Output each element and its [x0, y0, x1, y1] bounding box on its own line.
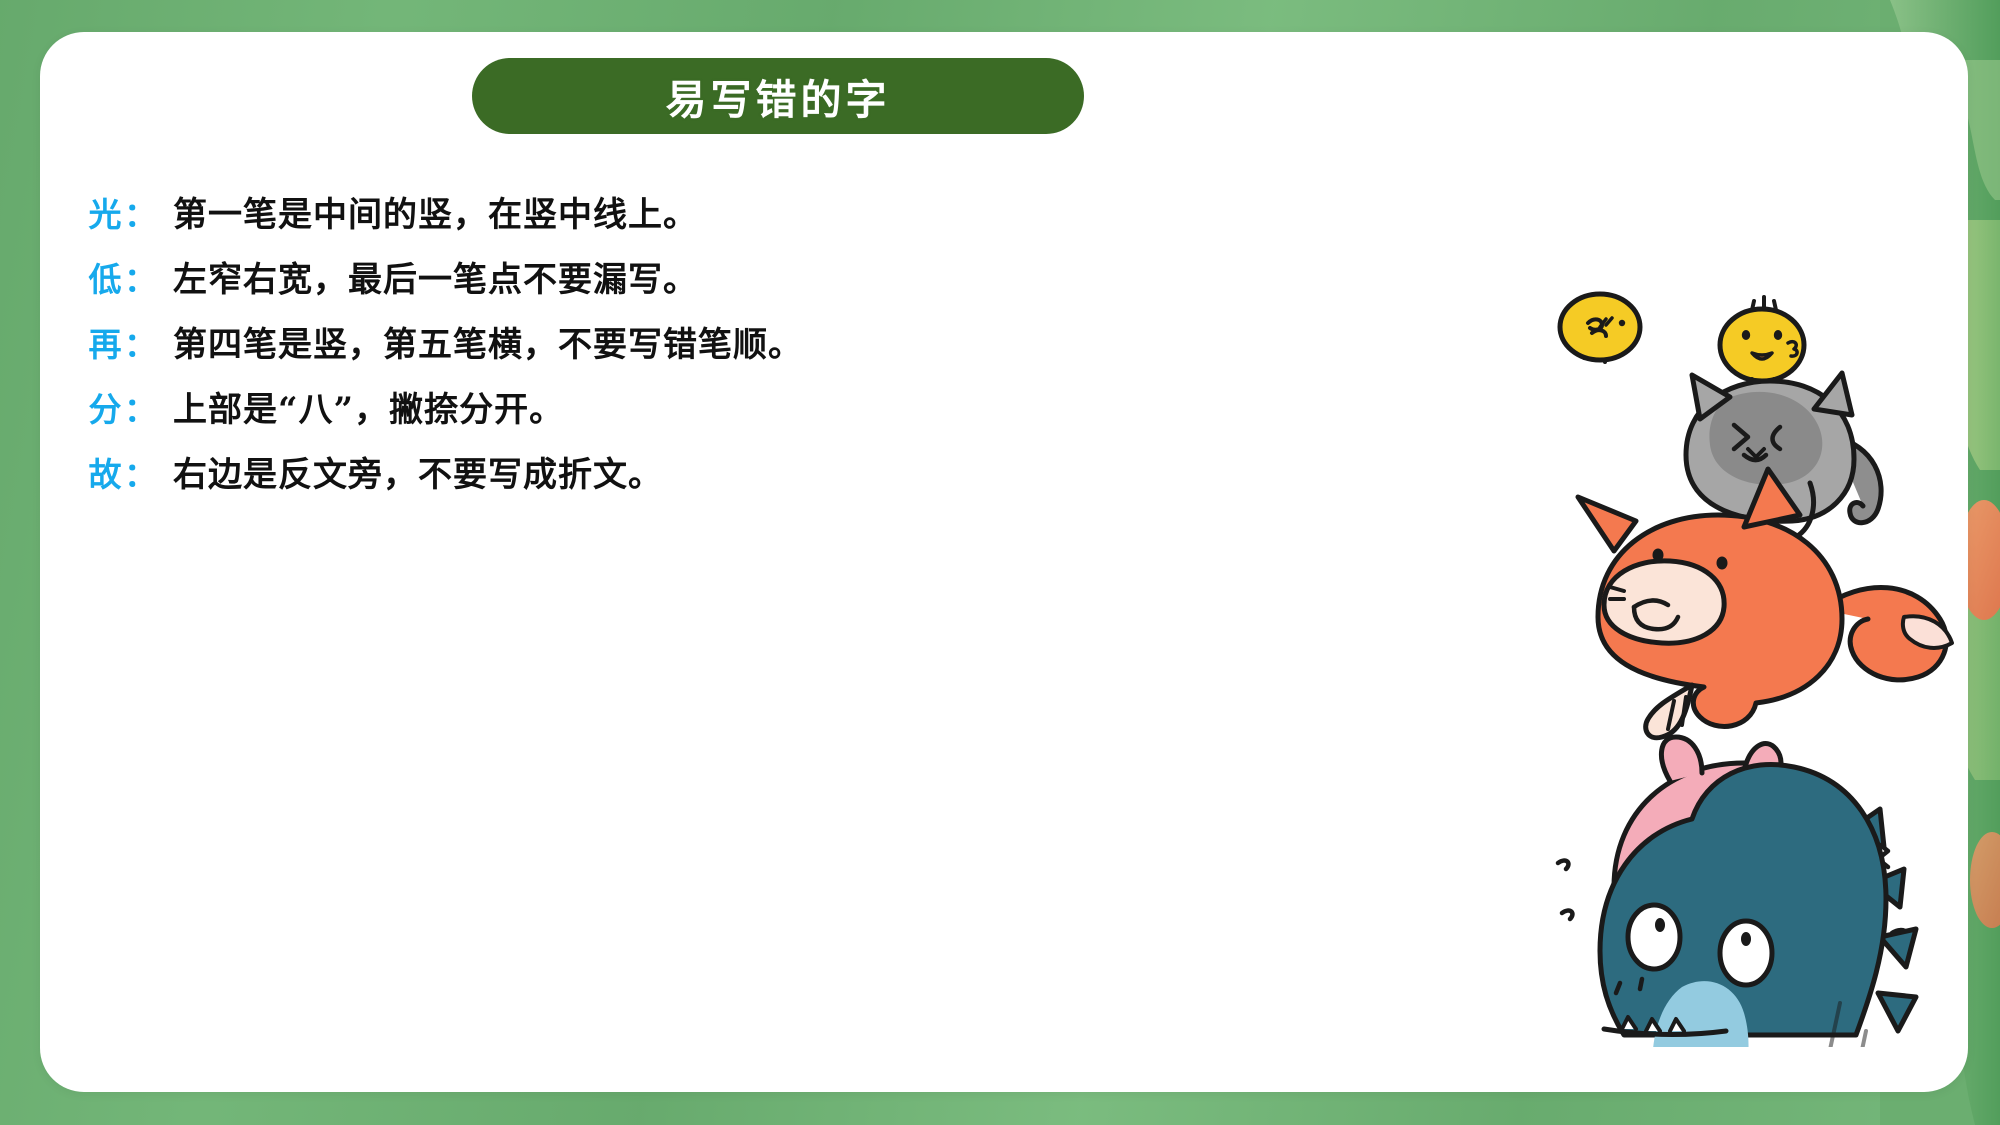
tip-text: 右边是反文旁，不要写成折文。: [173, 447, 663, 496]
tip-colon: ：: [124, 253, 157, 301]
tip-colon: ：: [124, 318, 157, 366]
tip-character: 分: [86, 383, 124, 431]
fox-icon: [1578, 469, 1952, 738]
list-item: 再 ： 第四笔是竖，第五笔横，不要写错笔顺。: [86, 317, 1336, 382]
tip-character: 再: [86, 318, 124, 366]
tip-character: 故: [86, 448, 124, 496]
tip-colon: ：: [124, 188, 157, 236]
title-banner: 易写错的字: [472, 58, 1084, 134]
content-card: 易写错的字 光 ： 第一笔是中间的竖，在竖中线上。 低 ： 左窄右宽，最后一笔点…: [40, 32, 1968, 1092]
tip-text: 第四笔是竖，第五笔横，不要写错笔顺。: [173, 317, 803, 366]
slide-canvas: 易写错的字 光 ： 第一笔是中间的竖，在竖中线上。 低 ： 左窄右宽，最后一笔点…: [0, 0, 2000, 1125]
animal-stack-illustration: [1548, 287, 1968, 1047]
chick-left-icon: [1560, 294, 1640, 362]
page-title: 易写错的字: [666, 66, 891, 126]
tip-text: 左窄右宽，最后一笔点不要漏写。: [173, 252, 698, 301]
tip-character: 低: [86, 253, 124, 301]
tip-text: 第一笔是中间的竖，在竖中线上。: [173, 187, 698, 236]
tip-character: 光: [86, 188, 124, 236]
list-item: 分 ： 上部是“八”，撇捺分开。: [86, 382, 1336, 447]
tip-list: 光 ： 第一笔是中间的竖，在竖中线上。 低 ： 左窄右宽，最后一笔点不要漏写。 …: [86, 187, 1336, 512]
list-item: 故 ： 右边是反文旁，不要写成折文。: [86, 447, 1336, 512]
list-item: 光 ： 第一笔是中间的竖，在竖中线上。: [86, 187, 1336, 252]
tip-text: 上部是“八”，撇捺分开。: [173, 382, 564, 431]
list-item: 低 ： 左窄右宽，最后一笔点不要漏写。: [86, 252, 1336, 317]
tip-colon: ：: [124, 383, 157, 431]
tip-colon: ：: [124, 448, 157, 496]
